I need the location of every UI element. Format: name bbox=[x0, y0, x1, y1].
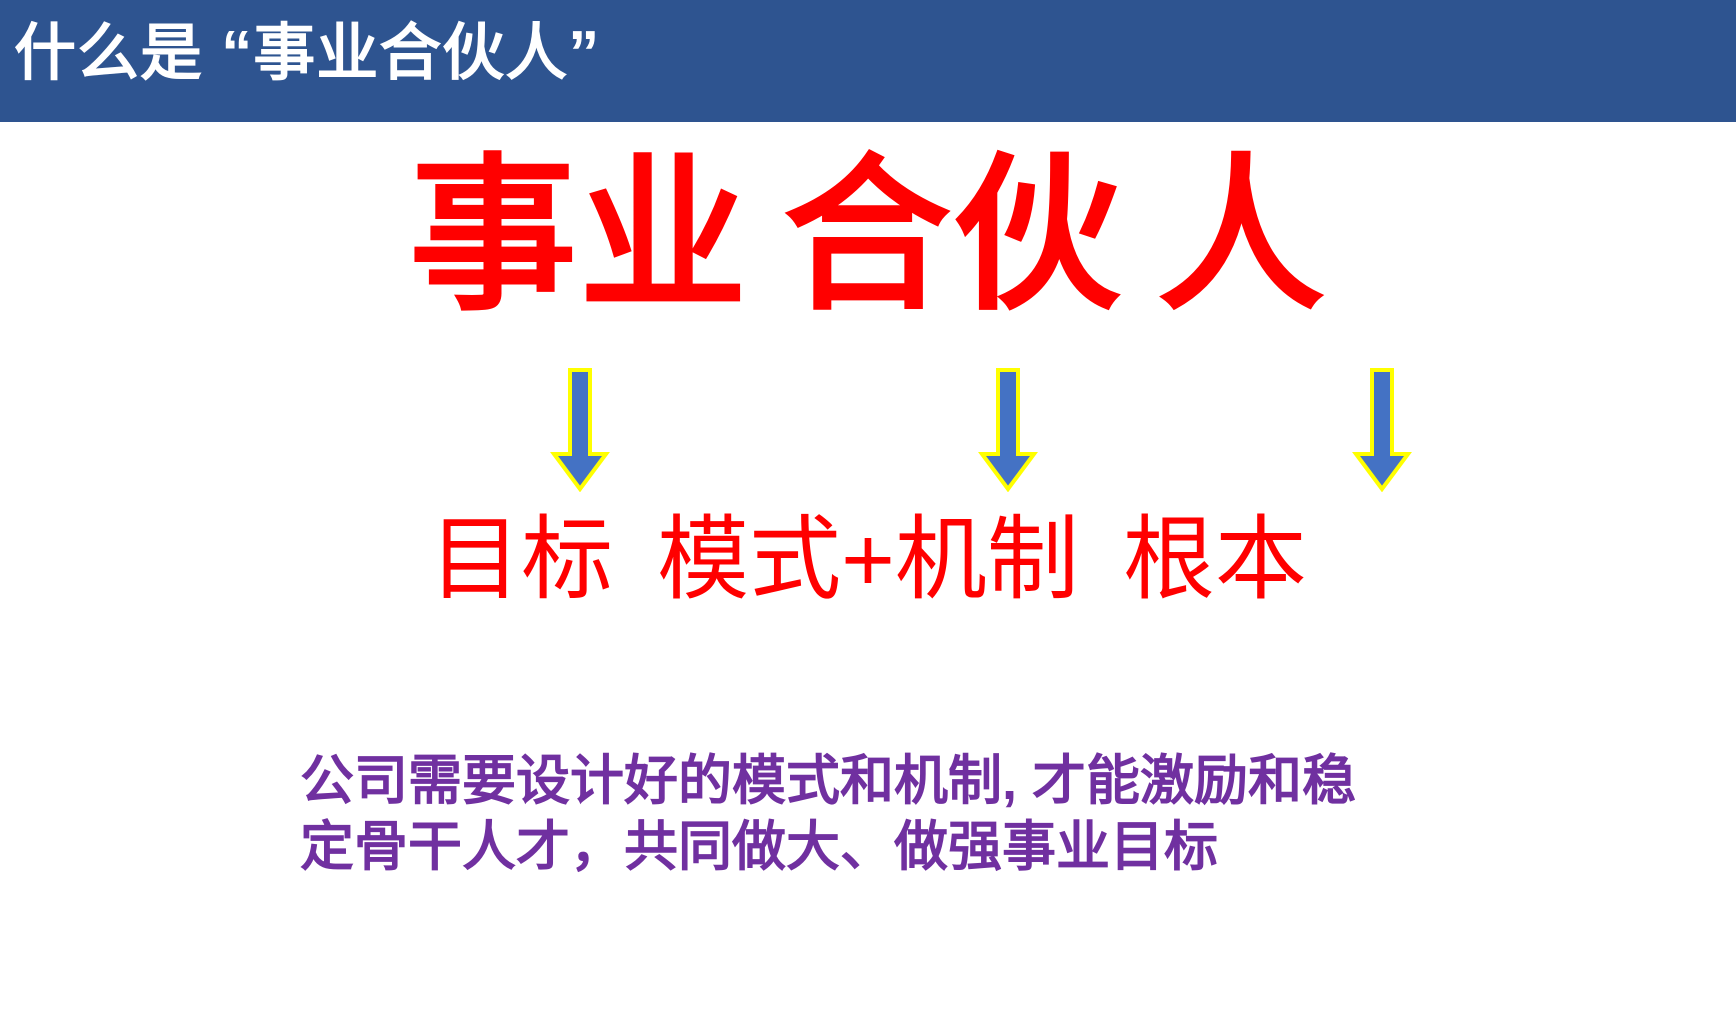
arrow-down-icon-2 bbox=[978, 368, 1038, 492]
label-goal: 目标 bbox=[429, 509, 613, 611]
headline-part-2: 合伙 bbox=[783, 142, 1123, 330]
note-line-2: 定骨干人才，共同做大、做强事业目标 bbox=[300, 814, 1460, 880]
headline-part-3: 人 bbox=[1157, 142, 1327, 330]
slide-canvas: 什么是 “事业合伙人” 事业合伙人 目标模式+机制根本 公司需要设计好的模式和机… bbox=[0, 0, 1736, 1012]
arrow-down-icon-3 bbox=[1352, 368, 1412, 492]
label-foundation: 根本 bbox=[1123, 509, 1307, 611]
label-model-mechanism: 模式+机制 bbox=[657, 509, 1079, 611]
page-title: 什么是 “事业合伙人” bbox=[14, 6, 600, 102]
arrow-down-icon-1 bbox=[550, 368, 610, 492]
note-line-1: 公司需要设计好的模式和机制, 才能激励和稳 bbox=[300, 748, 1460, 814]
headline-part-1: 事业 bbox=[409, 142, 749, 330]
note-paragraph: 公司需要设计好的模式和机制, 才能激励和稳 定骨干人才，共同做大、做强事业目标 bbox=[300, 748, 1460, 880]
title-bar: 什么是 “事业合伙人” bbox=[0, 0, 1736, 122]
headline: 事业合伙人 bbox=[0, 136, 1736, 336]
labels-row: 目标模式+机制根本 bbox=[0, 498, 1736, 622]
arrow-group bbox=[0, 368, 1736, 498]
